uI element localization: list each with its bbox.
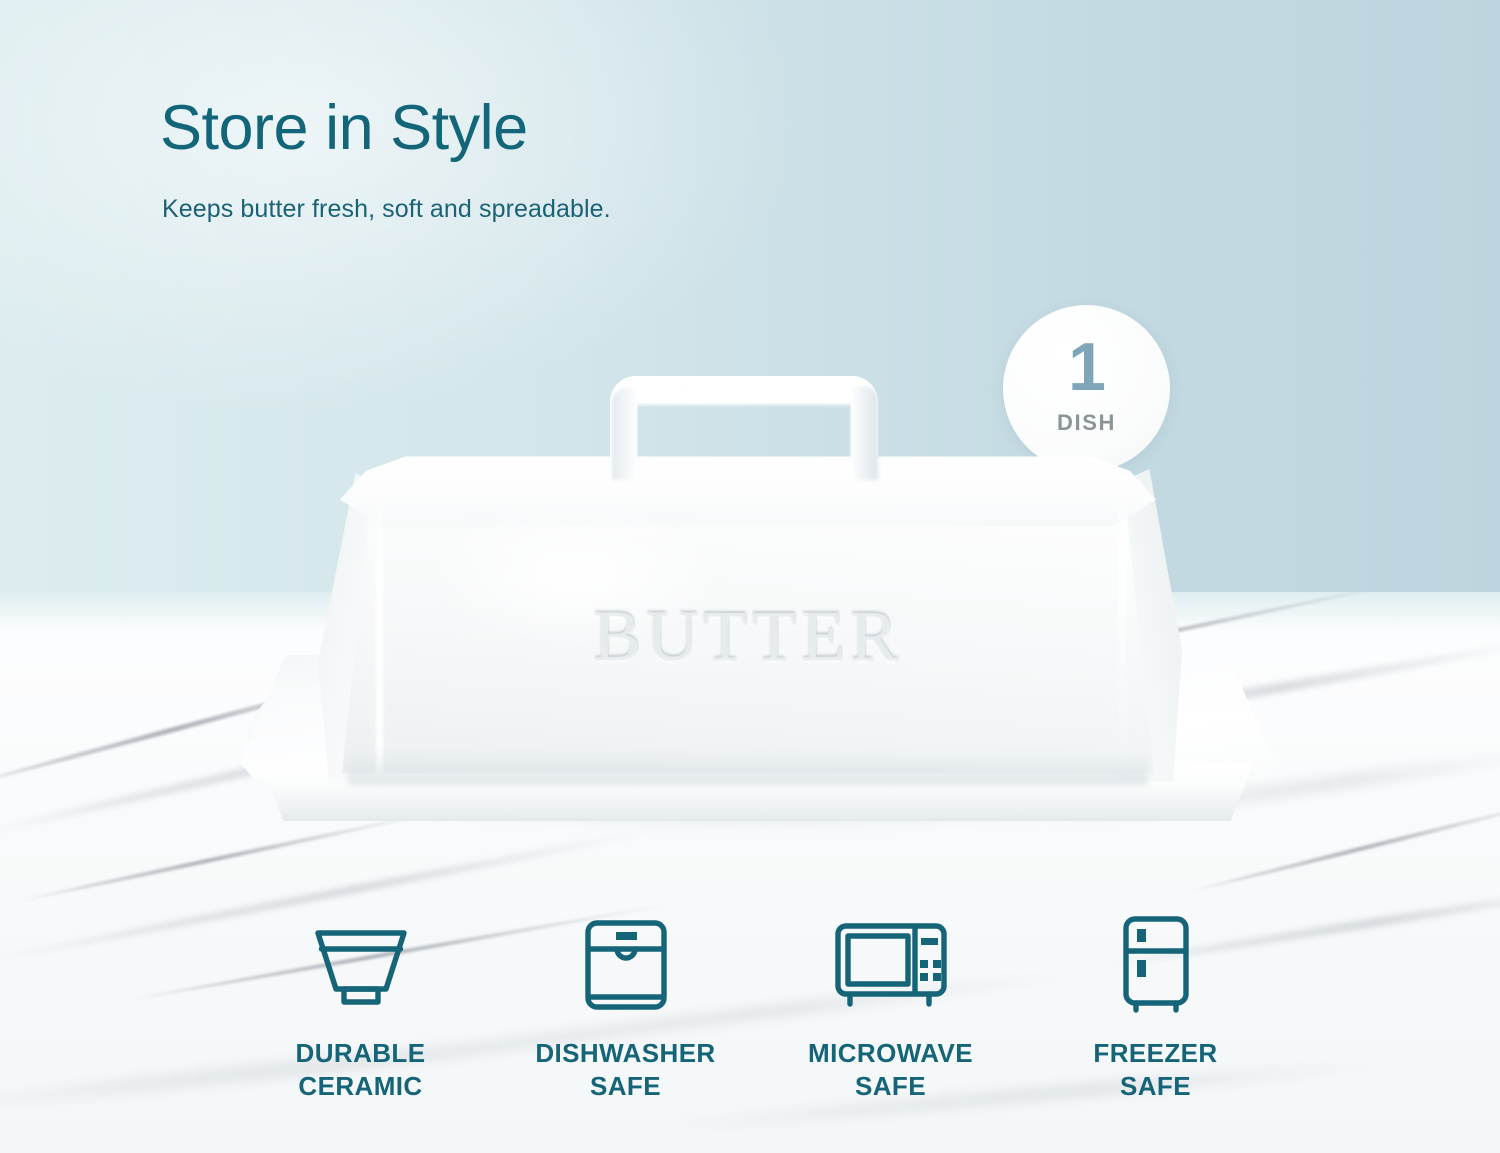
ceramic-bowl-icon [313, 915, 409, 1015]
marble-vein [954, 636, 1500, 750]
page-title: Store in Style [160, 95, 528, 161]
marble-vein [1041, 744, 1500, 832]
quantity-badge: 1 DISH [1003, 305, 1170, 472]
feature-label: MICROWAVE SAFE [808, 1037, 973, 1104]
feature-microwave-safe: MICROWAVE SAFE [758, 915, 1023, 1104]
microwave-icon [834, 915, 948, 1015]
marble-vein [1185, 794, 1500, 895]
feature-label: DURABLE CERAMIC [296, 1037, 426, 1104]
feature-label: FREEZER SAFE [1093, 1037, 1217, 1104]
page-subtitle: Keeps butter fresh, soft and spreadable. [162, 195, 611, 224]
feature-label: DISHWASHER SAFE [535, 1037, 715, 1104]
refrigerator-icon [1120, 915, 1192, 1015]
feature-dishwasher-safe: DISHWASHER SAFE [493, 915, 758, 1104]
marble-vein [14, 808, 445, 903]
dishwasher-icon [584, 915, 668, 1015]
product-marketing-image: Store in Style Keeps butter fresh, soft … [0, 0, 1500, 1153]
feature-icon-row: DURABLE CERAMIC DISHWASHER SAFE [228, 915, 1288, 1125]
badge-label: DISH [1057, 410, 1116, 436]
marble-vein [423, 637, 938, 726]
badge-count: 1 [1068, 335, 1105, 400]
feature-durable-ceramic: DURABLE CERAMIC [228, 915, 493, 1104]
wall-light-glow [0, 0, 1500, 608]
feature-freezer-safe: FREEZER SAFE [1023, 915, 1288, 1104]
